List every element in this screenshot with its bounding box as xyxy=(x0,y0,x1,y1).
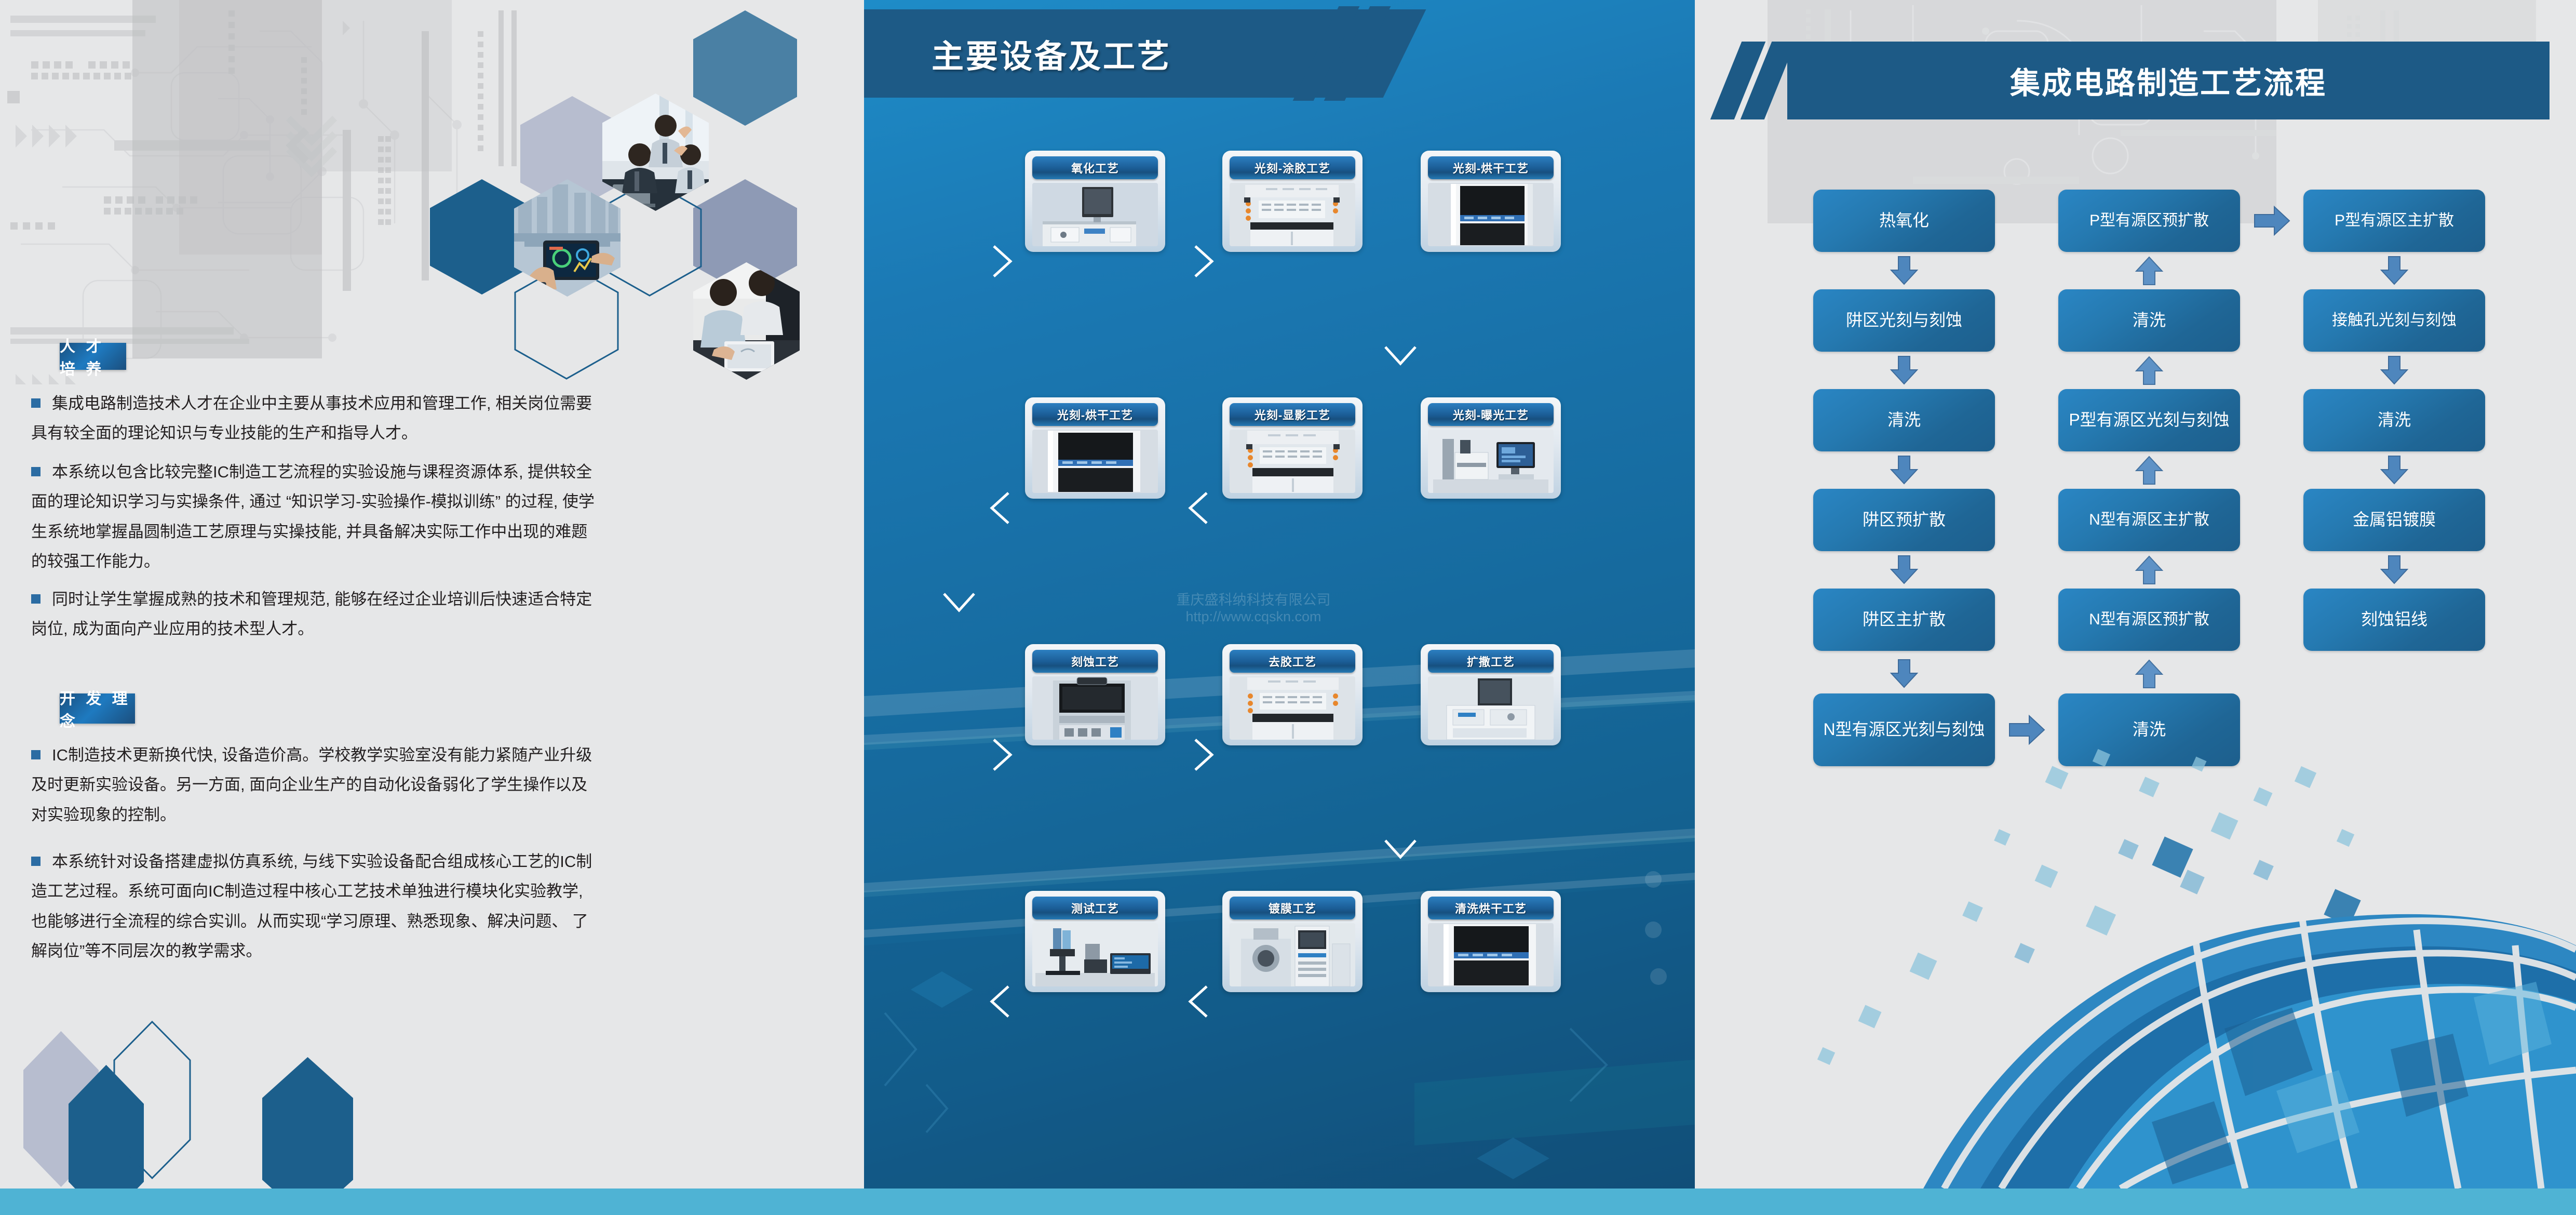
watermark-url: http://www.cqskn.com xyxy=(1124,609,1383,625)
equipment-photo-etcher xyxy=(1032,676,1158,740)
hexagon-cluster xyxy=(441,0,836,395)
flow-step[interactable]: 阱区主扩散 xyxy=(1813,589,1995,651)
equipment-photo-sputter-coater xyxy=(1230,923,1355,986)
flow-step[interactable]: 阱区预扩散 xyxy=(1813,489,1995,551)
equipment-card[interactable]: 测试工艺 xyxy=(1025,891,1165,992)
section-badge-philosophy: 开 发 理 念 xyxy=(60,693,135,724)
equipment-label: 镀膜工艺 xyxy=(1230,897,1355,919)
equipment-photo-stripper-hood xyxy=(1230,676,1355,740)
watermark: 重庆盛科纳科技有限公司 http://www.cqskn.com xyxy=(1124,592,1383,625)
chevron-left-icon xyxy=(989,491,1013,525)
arrow-down-icon xyxy=(2380,355,2409,385)
flow-step[interactable]: 金属铝镀膜 xyxy=(2303,489,2485,551)
center-panel-title: 主要设备及工艺 xyxy=(864,9,1344,98)
equipment-label: 清洗烘干工艺 xyxy=(1428,897,1554,919)
equipment-card[interactable]: 扩撒工艺 xyxy=(1421,644,1561,745)
equipment-card[interactable]: 镀膜工艺 xyxy=(1222,891,1363,992)
arrow-down-icon xyxy=(2380,555,2409,585)
equipment-card[interactable]: 光刻-烘干工艺 xyxy=(1421,151,1561,252)
arrow-down-icon xyxy=(1890,256,1919,286)
arrow-down-icon xyxy=(1890,555,1919,585)
center-panel: 主要设备及工艺 氧化工艺 xyxy=(864,0,1695,1189)
wave-decoration xyxy=(1757,738,2576,1189)
equipment-label: 光刻-涂胶工艺 xyxy=(1230,156,1355,179)
equipment-photo-oxidation-furnace xyxy=(1032,183,1158,246)
flow-step[interactable]: P型有源区光刻与刻蚀 xyxy=(2058,389,2240,451)
bottom-accent-bar xyxy=(0,1189,2576,1215)
arrow-up-icon xyxy=(2135,455,2164,485)
arrow-right-icon-bridge-top xyxy=(2254,205,2291,236)
equipment-card[interactable]: 光刻-曝光工艺 xyxy=(1421,397,1561,499)
arrow-up-icon xyxy=(2135,256,2164,286)
arrow-up-icon xyxy=(2135,555,2164,585)
equipment-card[interactable]: 清洗烘干工艺 xyxy=(1421,891,1561,992)
right-panel: 集成电路制造工艺流程 热氧化 阱区光刻与刻蚀 清洗 阱区预扩散 阱区主扩散 N型… xyxy=(1695,0,2576,1189)
flow-step[interactable]: N型有源区主扩散 xyxy=(2058,489,2240,551)
flow-step[interactable]: N型有源区预扩散 xyxy=(2058,589,2240,651)
arrow-up-icon xyxy=(2135,355,2164,385)
chevron-down-icon xyxy=(1383,343,1418,367)
equipment-photo-bake-oven xyxy=(1428,183,1554,246)
left-panel: 人 才 培 养 集成电路制造技术人才在企业中主要从事技术应用和管理工作, 相关岗… xyxy=(0,0,864,1189)
equipment-photo-clean-dry-bench xyxy=(1428,923,1554,986)
poster-canvas: 人 才 培 养 集成电路制造技术人才在企业中主要从事技术应用和管理工作, 相关岗… xyxy=(0,0,2576,1215)
bullet-marker xyxy=(31,750,41,759)
equipment-photo-coater-hood xyxy=(1230,183,1355,246)
flow-step[interactable]: P型有源区预扩散 xyxy=(2058,190,2240,252)
chevron-left-icon xyxy=(1187,984,1211,1019)
section-badge-talent: 人 才 培 养 xyxy=(60,343,126,370)
equipment-card[interactable]: 刻蚀工艺 xyxy=(1025,644,1165,745)
arrow-down-icon xyxy=(2380,256,2409,286)
arrow-down-icon xyxy=(1890,355,1919,385)
watermark-company: 重庆盛科纳科技有限公司 xyxy=(1124,592,1383,609)
equipment-label: 光刻-烘干工艺 xyxy=(1428,156,1554,179)
hexagon-solid-teal xyxy=(693,10,797,126)
equipment-label: 测试工艺 xyxy=(1032,897,1158,919)
bullet-marker xyxy=(31,594,41,604)
grey-overlay-c xyxy=(322,0,452,171)
paragraph-philosophy-2: 本系统针对设备搭建虚拟仿真系统, 与线下实验设备配合组成核心工艺的IC制造工艺过… xyxy=(31,847,597,966)
flow-step[interactable]: 接触孔光刻与刻蚀 xyxy=(2303,289,2485,352)
flow-step[interactable]: 清洗 xyxy=(2303,389,2485,451)
bullet-marker xyxy=(31,467,41,476)
photo-hex-students-laptop xyxy=(693,262,800,380)
equipment-label: 氧化工艺 xyxy=(1032,156,1158,179)
equipment-label: 去胶工艺 xyxy=(1230,650,1355,673)
arrow-down-icon xyxy=(2380,455,2409,485)
paragraph-talent-2: 本系统以包含比较完整IC制造工艺流程的实验设施与课程资源体系, 提供较全面的理论… xyxy=(31,457,597,576)
flow-step[interactable]: 热氧化 xyxy=(1813,190,1995,252)
arrow-up-icon xyxy=(2135,659,2164,689)
chevron-right-icon xyxy=(990,244,1014,278)
chevron-down-icon xyxy=(1383,836,1418,860)
equipment-card[interactable]: 光刻-烘干工艺 xyxy=(1025,397,1165,499)
hexagon-bottom-outline xyxy=(113,1021,191,1179)
equipment-photo-bake-oven-2 xyxy=(1032,430,1158,493)
chevron-right-icon xyxy=(1191,244,1215,278)
equipment-card[interactable]: 光刻-涂胶工艺 xyxy=(1222,151,1363,252)
equipment-label: 光刻-曝光工艺 xyxy=(1428,403,1554,426)
flow-step[interactable]: 刻蚀铝线 xyxy=(2303,589,2485,651)
equipment-card[interactable]: 去胶工艺 xyxy=(1222,644,1363,745)
chevron-left-icon xyxy=(1187,491,1211,525)
equipment-label: 光刻-烘干工艺 xyxy=(1032,403,1158,426)
equipment-photo-diffusion-furnace xyxy=(1428,676,1554,740)
grey-overlay-b xyxy=(179,0,322,255)
arrow-down-icon xyxy=(1890,455,1919,485)
equipment-label: 光刻-显影工艺 xyxy=(1230,403,1355,426)
bullet-marker xyxy=(31,398,41,408)
right-panel-title: 集成电路制造工艺流程 xyxy=(1787,42,2550,119)
paragraph-talent-3: 同时让学生掌握成熟的技术和管理规范, 能够在经过企业培训后快速适合特定岗位, 成… xyxy=(31,584,597,644)
chevron-left-icon xyxy=(989,984,1013,1019)
equipment-photo-probe-station xyxy=(1032,923,1158,986)
equipment-label: 刻蚀工艺 xyxy=(1032,650,1158,673)
flow-step[interactable]: P型有源区主扩散 xyxy=(2303,190,2485,252)
chevron-right-icon xyxy=(1191,738,1215,772)
equipment-label: 扩撒工艺 xyxy=(1428,650,1554,673)
chevron-right-icon xyxy=(990,738,1014,772)
bullet-marker xyxy=(31,857,41,866)
equipment-card[interactable]: 光刻-显影工艺 xyxy=(1222,397,1363,499)
equipment-card[interactable]: 氧化工艺 xyxy=(1025,151,1165,252)
paragraph-philosophy-1: IC制造技术更新换代快, 设备造价高。学校教学实验室没有能力紧随产业升级及时更新… xyxy=(31,740,597,830)
equipment-photo-developer-hood xyxy=(1230,430,1355,493)
arrow-down-icon xyxy=(1890,659,1919,689)
flow-step[interactable]: 阱区光刻与刻蚀 xyxy=(1813,289,1995,352)
hexagon-bottom-darkblue-2 xyxy=(262,1057,353,1189)
flow-step[interactable]: 清洗 xyxy=(1813,389,1995,451)
equipment-photo-mask-aligner xyxy=(1428,430,1554,493)
paragraph-talent-1: 集成电路制造技术人才在企业中主要从事技术应用和管理工作, 相关岗位需要具有较全面… xyxy=(31,389,597,448)
chevron-down-icon xyxy=(942,590,976,613)
flow-step[interactable]: 清洗 xyxy=(2058,289,2240,352)
